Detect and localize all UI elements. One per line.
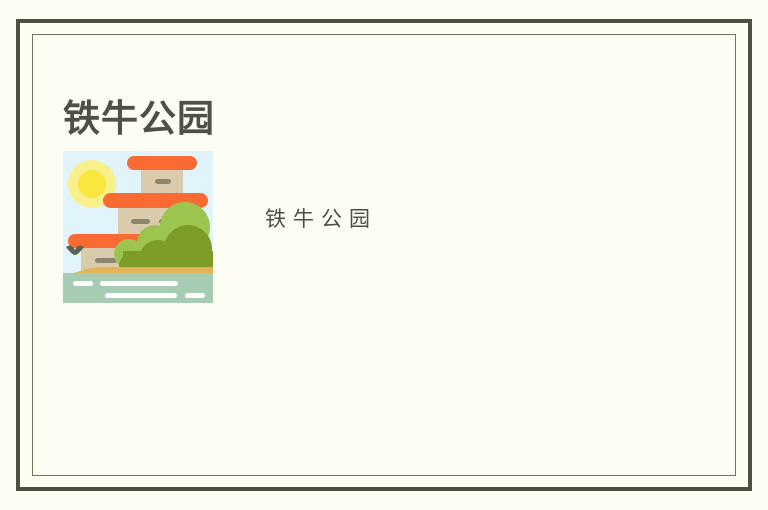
page-title: 铁牛公园 [63,96,215,142]
inner-frame-border: 铁牛公园 [32,34,736,476]
water-highlight-3 [105,293,177,298]
water-highlight-1 [73,281,93,286]
pagoda-lower-window [95,258,117,263]
pagoda-upper-window [155,179,171,184]
page-root: 铁牛公园 [0,0,768,510]
water-highlight-4 [185,293,205,298]
pagoda-middle-window-left [131,219,150,224]
content-row: 铁牛公园 [63,151,715,307]
water-body [63,273,213,303]
illustration-caption: 铁牛公园 [265,203,377,233]
park-pagoda-illustration [63,151,213,303]
outer-frame-border: 铁牛公园 [16,19,752,491]
pagoda-upper-roof [127,156,197,170]
sun-core [78,170,106,198]
water-highlight-2 [100,281,178,286]
